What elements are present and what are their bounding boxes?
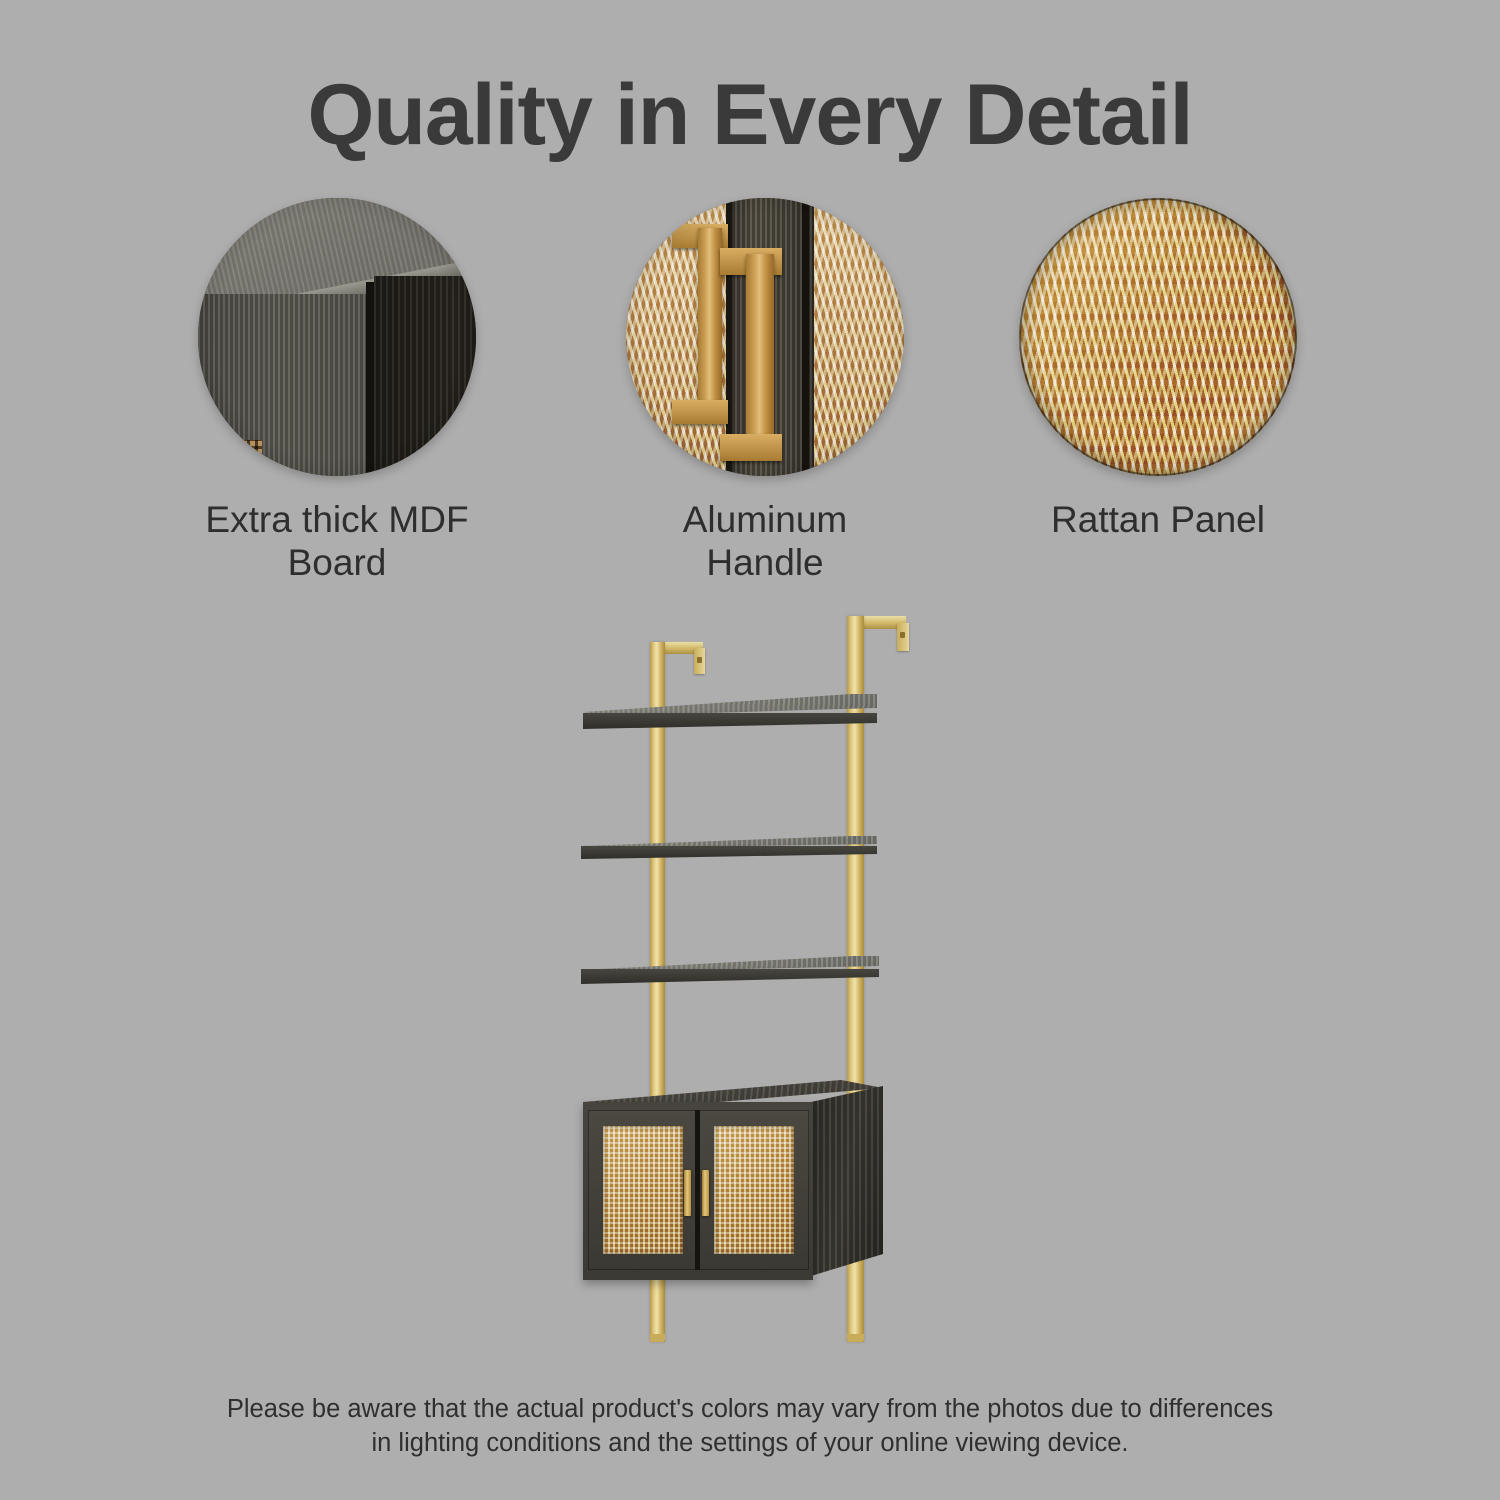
shelf-front-edge <box>583 713 877 729</box>
handle-mount-bottom <box>672 400 728 424</box>
feature-card-mdf-board: Extra thick MDF Board <box>187 198 487 585</box>
rattan-door-panel <box>714 1126 794 1254</box>
cabinet-handle-left <box>684 1170 691 1216</box>
cabinet-door-left <box>588 1110 698 1270</box>
shelf-middle <box>581 836 877 862</box>
rattan-door-panel <box>603 1126 683 1254</box>
door-seam-right <box>802 198 809 476</box>
shelf-top <box>583 694 877 734</box>
rattan-panel-right <box>808 198 904 476</box>
rattan-panel-closeup-image <box>1019 198 1297 476</box>
mdf-board-closeup-image <box>198 198 476 476</box>
feature-card-rattan-panel: Rattan Panel <box>1008 198 1308 541</box>
rail-foot-right <box>847 1334 864 1342</box>
feature-card-aluminum-handle: Aluminum Handle <box>615 198 915 585</box>
rail-foot-left <box>650 1334 665 1342</box>
product-image-ladder-shelf <box>565 608 945 1348</box>
cabinet-door-right <box>699 1110 809 1270</box>
shelf-front-edge <box>581 969 879 984</box>
feature-label-aluminum-handle: Aluminum Handle <box>615 498 915 585</box>
feature-label-mdf-board: Extra thick MDF Board <box>187 498 487 585</box>
rattan-weave-patch <box>198 440 262 476</box>
page-title: Quality in Every Detail <box>0 70 1500 160</box>
cabinet-base <box>583 1080 883 1298</box>
cabinet-handle-right <box>702 1170 709 1216</box>
cabinet-side-panel <box>811 1086 883 1276</box>
bracket-screw-hole <box>697 657 702 663</box>
shelf-lower <box>581 956 879 988</box>
cabinet-door-seam <box>695 1110 700 1270</box>
cabinet-front-frame <box>583 1102 813 1280</box>
feature-highlights-row: Extra thick MDF Board Aluminum Handle R <box>0 198 1500 598</box>
handle-bar <box>698 228 722 418</box>
mdf-side-face <box>374 276 476 476</box>
bracket-screw-hole <box>900 632 905 638</box>
handle-mount-bottom <box>720 434 782 461</box>
shelf-front-edge <box>581 846 877 859</box>
aluminum-handle-closeup-image <box>626 198 904 476</box>
color-disclaimer-text: Please be aware that the actual product'… <box>0 1392 1500 1460</box>
feature-label-rattan-panel: Rattan Panel <box>1008 498 1308 541</box>
handle-bar <box>746 254 774 454</box>
